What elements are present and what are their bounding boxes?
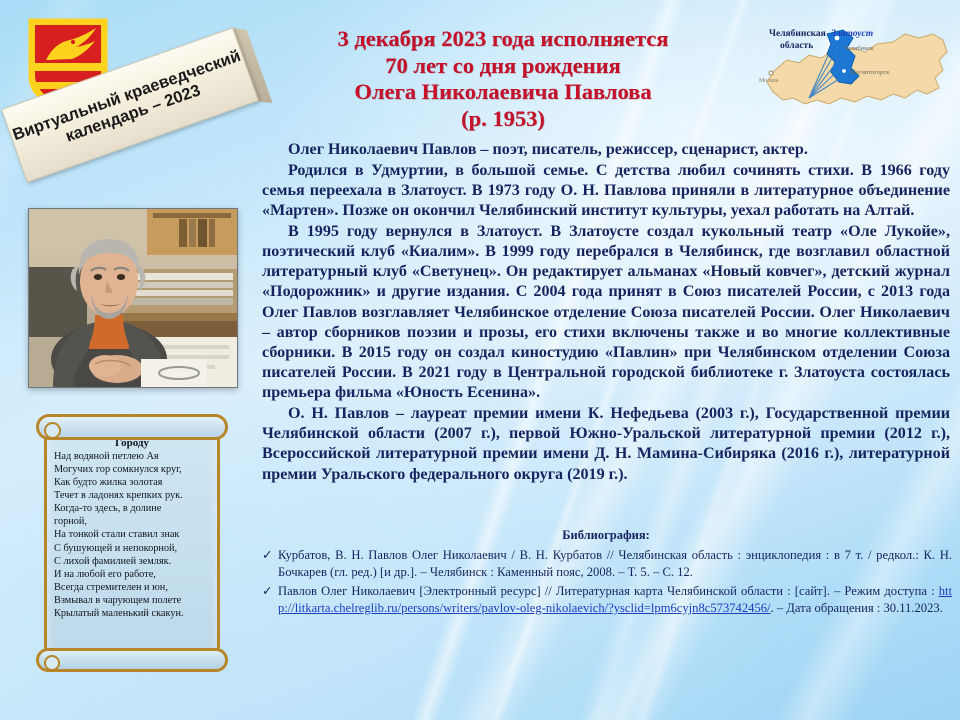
biography-paragraph: В 1995 году вернулся в Златоуст. В Злато… — [262, 222, 950, 404]
poem-line: горной, — [54, 515, 210, 528]
headline-line-4: (р. 1953) — [268, 106, 738, 133]
scroll-roll-top — [36, 414, 228, 440]
map-label-city-magnitogorsk: Магнитогорск — [850, 69, 890, 76]
bibliography-item: ✓Курбатов, В. Н. Павлов Олег Николаевич … — [262, 547, 952, 580]
bibliography-list: ✓Курбатов, В. Н. Павлов Олег Николаевич … — [262, 547, 952, 620]
poem-line: Могучих гор сомкнулся круг, — [54, 463, 210, 476]
poem-line: На тонкой стали ставил знак — [54, 528, 210, 541]
poem-line: Крылатый маленький скакун. — [54, 607, 210, 620]
bibliography-citation: Павлов Олег Николаевич [Электронный ресу… — [278, 584, 939, 598]
author-portrait-photo — [28, 208, 238, 388]
map-label-city-zlatoust: Златоуст — [830, 29, 873, 39]
bibliography-item: ✓Павлов Олег Николаевич [Электронный рес… — [262, 583, 952, 616]
bibliography-text: Курбатов, В. Н. Павлов Олег Николаевич /… — [278, 547, 952, 580]
headline-line-3: Олега Николаевича Павлова — [268, 79, 738, 106]
map-label-region-line1: Челябинская — [769, 28, 826, 39]
poem-line: Как будто жилка золотая — [54, 476, 210, 489]
russia-map-icon: Челябинская область Златоуст Челябинск М… — [747, 8, 952, 130]
headline-line-2: 70 лет со дня рождения — [268, 53, 738, 80]
poem-line: Когда-то здесь, в долине — [54, 502, 210, 515]
poem-line: С бушующей и непокорной, — [54, 542, 210, 555]
biography-paragraph: Олег Николаевич Павлов – поэт, писатель,… — [262, 140, 950, 160]
bibliography-access-date: . – Дата обращения : 30.11.2023. — [771, 601, 943, 615]
page-title: 3 декабря 2023 года исполняется 70 лет с… — [268, 26, 738, 132]
biography-paragraph: О. Н. Павлов – лауреат премии имени К. Н… — [262, 404, 950, 485]
poem-scroll: Городу Над водяной петлею АяМогучих гор … — [36, 412, 228, 674]
bibliography-citation: Курбатов, В. Н. Павлов Олег Николаевич /… — [278, 548, 952, 579]
scroll-roll-bottom — [36, 648, 228, 672]
map-label-region-line2: область — [780, 40, 813, 51]
poster-canvas: Виртуальный краеведческий календарь – 20… — [0, 0, 960, 720]
biography-paragraph: Родился в Удмуртии, в большой семье. С д… — [262, 161, 950, 222]
poem-line: И на любой его работе, — [54, 568, 210, 581]
poem-line: С лихой фамилией земляк. — [54, 555, 210, 568]
biography-text: Олег Николаевич Павлов – поэт, писатель,… — [262, 140, 950, 485]
bibliography-heading: Библиография: — [262, 528, 950, 543]
poem-sheet: Городу Над водяной петлею АяМогучих гор … — [44, 428, 220, 660]
map-label-city-moscow: Москва — [759, 78, 779, 84]
checkmark-icon: ✓ — [262, 547, 278, 564]
headline-line-1: 3 декабря 2023 года исполняется — [268, 26, 738, 53]
poem-body: Над водяной петлею АяМогучих гор сомкнул… — [54, 450, 210, 620]
poem-line: Течет в ладонях крепких рук. — [54, 489, 210, 502]
poem-line: Над водяной петлею Ая — [54, 450, 210, 463]
checkmark-icon: ✓ — [262, 583, 278, 600]
bibliography-text: Павлов Олег Николаевич [Электронный ресу… — [278, 583, 952, 616]
poem-line: Взмывал в чарующем полете — [54, 594, 210, 607]
map-label-city-chelyabinsk: Челябинск — [844, 45, 874, 52]
poem-line: Всегда стремителен и юн, — [54, 581, 210, 594]
